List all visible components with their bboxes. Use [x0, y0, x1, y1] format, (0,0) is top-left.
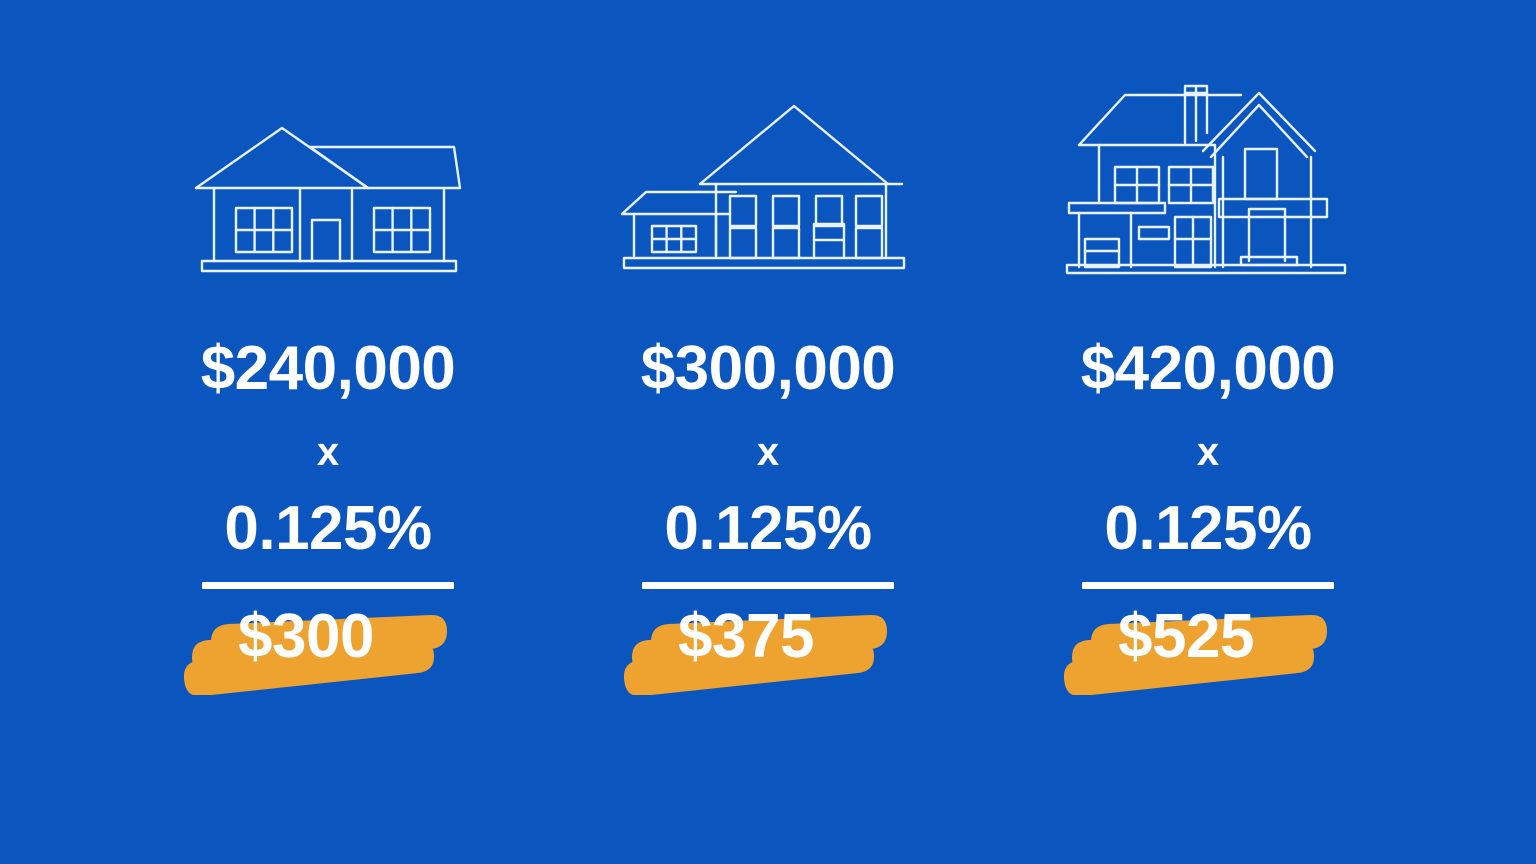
calculation-block-3: $420,000 x 0.125% $525 [988, 338, 1428, 695]
tax-rate-value: 0.125% [664, 498, 871, 560]
home-value-amount: $240,000 [201, 338, 456, 400]
equation-divider-rule [642, 582, 894, 589]
calculation-block-2: $300,000 x 0.125% $375 [548, 338, 988, 695]
large-two-story-house-icon [1058, 46, 1358, 276]
multiply-operator: x [317, 432, 339, 472]
equation-divider-rule [1082, 582, 1334, 589]
result-highlight-group: $525 [1058, 595, 1358, 695]
tax-result-amount: $375 [678, 606, 814, 668]
calculation-column-1: $240,000 x 0.125% $300 [108, 0, 548, 695]
calculation-column-2: $300,000 x 0.125% $375 [548, 0, 988, 695]
tax-rate-value: 0.125% [1104, 498, 1311, 560]
multiply-operator: x [757, 432, 779, 472]
result-highlight-group: $375 [618, 595, 918, 695]
two-story-house-icon [618, 46, 918, 276]
multiply-operator: x [1197, 432, 1219, 472]
comparison-columns: $240,000 x 0.125% $300 [0, 0, 1536, 864]
calculation-column-3: $420,000 x 0.125% $525 [988, 0, 1428, 695]
tax-rate-value: 0.125% [224, 498, 431, 560]
slide-canvas: $240,000 x 0.125% $300 [0, 0, 1536, 864]
equation-divider-rule [202, 582, 454, 589]
calculation-block-1: $240,000 x 0.125% $300 [108, 338, 548, 695]
tax-result-amount: $300 [238, 606, 374, 668]
tax-result-amount: $525 [1118, 606, 1254, 668]
home-value-amount: $300,000 [641, 338, 896, 400]
single-story-house-icon [178, 46, 478, 276]
result-highlight-group: $300 [178, 595, 478, 695]
home-value-amount: $420,000 [1081, 338, 1336, 400]
